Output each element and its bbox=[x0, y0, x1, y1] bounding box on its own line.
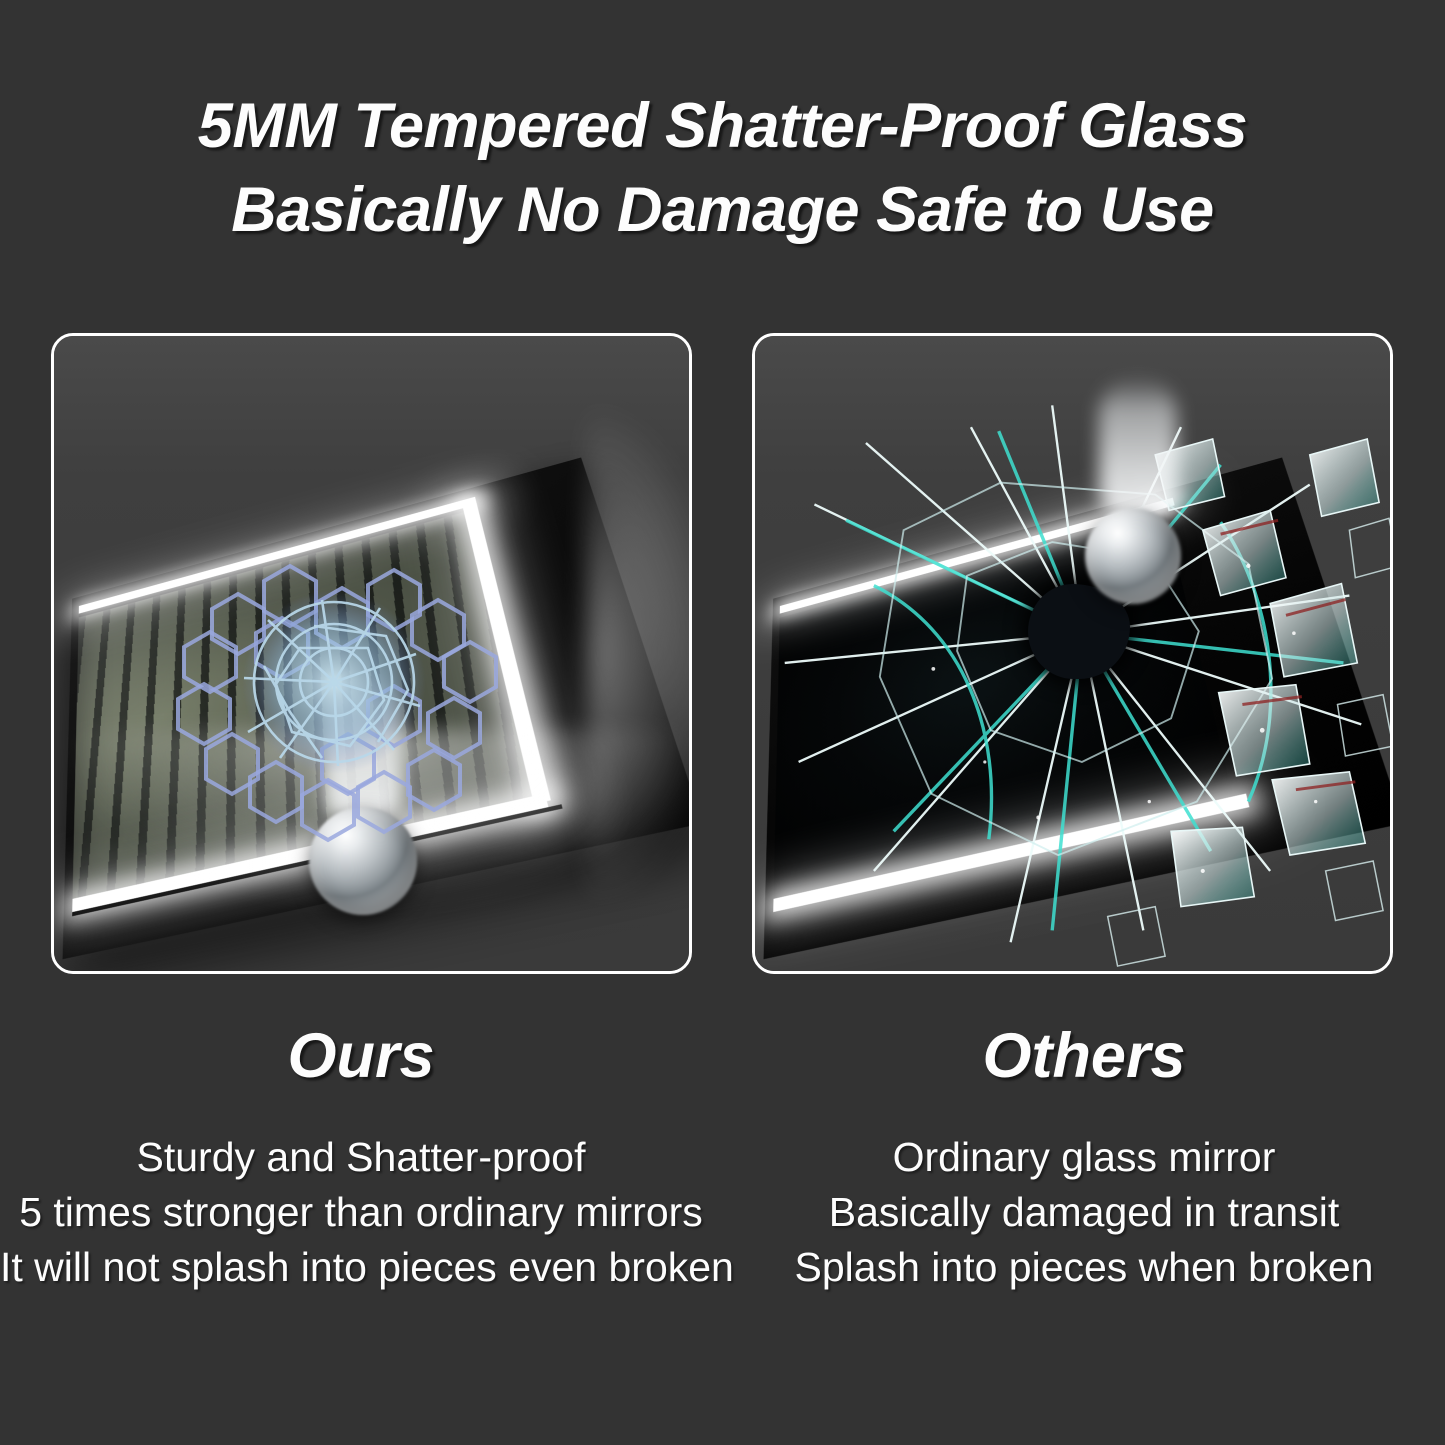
comparison-panels bbox=[0, 333, 1445, 974]
steel-ball-icon bbox=[1085, 508, 1181, 604]
honeycomb-strength-overlay bbox=[172, 566, 502, 856]
caption-line: Basically damaged in transit bbox=[723, 1185, 1445, 1240]
caption-column-others: Others Ordinary glass mirror Basically d… bbox=[723, 1020, 1445, 1295]
caption-line: It will not splash into pieces even brok… bbox=[0, 1240, 722, 1295]
caption-line: Splash into pieces when broken bbox=[723, 1240, 1445, 1295]
panel-ours-image bbox=[51, 333, 692, 974]
heading-others: Others bbox=[723, 1020, 1445, 1092]
led-halo-glow-right bbox=[587, 400, 689, 908]
motion-blur-trail bbox=[1099, 376, 1177, 526]
caption-line: 5 times stronger than ordinary mirrors bbox=[0, 1185, 722, 1240]
title-line-1: 5MM Tempered Shatter-Proof Glass bbox=[0, 84, 1445, 168]
caption-lines-others: Ordinary glass mirror Basically damaged … bbox=[723, 1130, 1445, 1295]
caption-line: Sturdy and Shatter-proof bbox=[0, 1130, 722, 1185]
title-line-2: Basically No Damage Safe to Use bbox=[0, 168, 1445, 252]
caption-lines-ours: Sturdy and Shatter-proof 5 times stronge… bbox=[0, 1130, 722, 1295]
caption-column-ours: Ours Sturdy and Shatter-proof 5 times st… bbox=[0, 1020, 722, 1295]
heading-ours: Ours bbox=[0, 1020, 722, 1092]
caption-line: Ordinary glass mirror bbox=[723, 1130, 1445, 1185]
panel-others-image bbox=[752, 333, 1393, 974]
page-title: 5MM Tempered Shatter-Proof Glass Basical… bbox=[0, 84, 1445, 252]
